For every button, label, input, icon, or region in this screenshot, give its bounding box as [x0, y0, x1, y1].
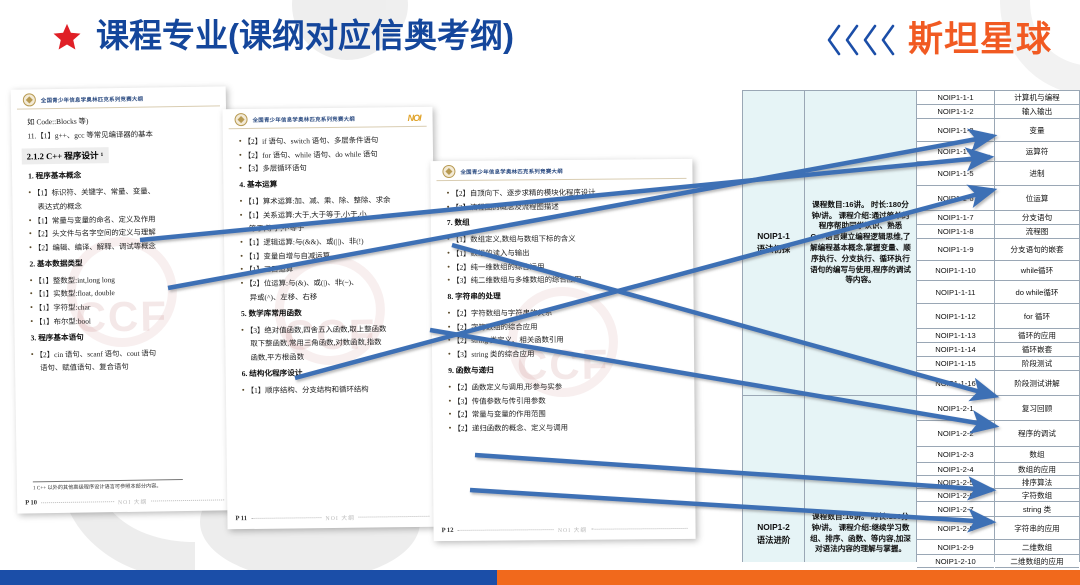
table-cell-code[interactable]: NOIP1-1-11 — [917, 281, 994, 304]
doc-footer: P 11NOI 大纲 — [235, 512, 429, 523]
bg-swoosh-top — [250, 0, 550, 70]
table-cell-lesson[interactable]: 循环的应用 — [995, 329, 1079, 343]
module-code: NOIP1-1 — [757, 230, 791, 243]
footer-divider — [359, 516, 430, 518]
table-cell-lesson[interactable]: string 类 — [995, 502, 1079, 517]
table-cell-code[interactable]: NOIP1-2-6 — [917, 489, 994, 502]
doc-footnote: 1 C++ 以外的其他高级程序设计语言可参照本部分内容。 — [33, 479, 183, 491]
table-cell-code[interactable]: NOIP1-2-8 — [917, 517, 994, 540]
table-cell-code[interactable]: NOIP1-1-6 — [917, 186, 994, 211]
chevron-left-icon — [825, 23, 842, 57]
table-cell-code[interactable]: NOIP1-1-7 — [917, 211, 994, 225]
footer-divider — [251, 517, 322, 519]
table-cell-code[interactable]: NOIP1-1-14 — [917, 343, 994, 357]
table-description-cell[interactable]: 课程数目:16讲。 时长:180分钟/讲。 课程介绍:继续学习数组、排序、函数、… — [805, 396, 916, 585]
doc-page-number: P 12 — [442, 527, 454, 534]
table-cell-code[interactable]: NOIP1-2-4 — [917, 463, 994, 476]
table-cell-code[interactable]: NOIP1-1-3 — [917, 119, 994, 142]
doc-section-heading: 2.1.2 C++ 程序设计 ¹ — [22, 148, 109, 165]
table-cell-lesson[interactable]: 进制 — [995, 162, 1079, 186]
table-cell-code[interactable]: NOIP1-2-3 — [917, 447, 994, 463]
table-cell-lesson[interactable]: 阶段测试 — [995, 357, 1079, 371]
table-cell-code[interactable]: NOIP1-1-12 — [917, 304, 994, 329]
table-description-cell[interactable]: 课程数目:16讲。 时长:180分钟/讲。 课程介绍:通过简单的程序帮助同学认识… — [805, 91, 916, 396]
table-cell-lesson[interactable]: 运算符 — [995, 142, 1079, 162]
footer-divider — [457, 529, 553, 531]
footer-divider — [41, 501, 114, 503]
table-cell-lesson[interactable]: 流程图 — [995, 225, 1079, 239]
doc-section-title: 4. 基本运算 — [239, 174, 423, 195]
noi-seal-icon — [442, 165, 455, 178]
doc-section-title: 5. 数学库常用函数 — [241, 302, 425, 323]
table-col-module: NOIP1-1语法初探NOIP1-2语法进阶 — [743, 91, 805, 562]
table-cell-lesson[interactable]: 计算机与编程 — [995, 91, 1079, 105]
doc-page-3[interactable]: 全国青少年信息学奥林匹克系列竞赛大纲CCF【2】自顶向下、逐步求精的模块化程序设… — [430, 159, 695, 541]
table-cell-lesson[interactable]: 字符数组 — [995, 489, 1079, 502]
table-cell-lesson[interactable]: do while循环 — [995, 281, 1079, 304]
footer-bar-blue — [0, 570, 497, 585]
module-label: 语法初探 — [757, 243, 791, 256]
noi-seal-icon — [23, 93, 36, 106]
doc-footer: P 10NOI 大纲 — [25, 495, 224, 507]
module-text: NOIP1-1语法初探 — [757, 230, 791, 255]
table-cell-code[interactable]: NOIP1-1-2 — [917, 105, 994, 119]
table-cell-lesson[interactable]: 输入输出 — [995, 105, 1079, 119]
table-cell-code[interactable]: NOIP1-1-5 — [917, 162, 994, 186]
doc-footer-text: NOI 大纲 — [558, 525, 587, 534]
table-cell-code[interactable]: NOIP1-1-10 — [917, 261, 994, 281]
table-module-cell[interactable]: NOIP1-1语法初探 — [743, 91, 804, 396]
table-cell-lesson[interactable]: 分支语句的嵌套 — [995, 239, 1079, 261]
table-cell-code[interactable]: NOIP1-1-1 — [917, 91, 994, 105]
doc-header-text: 全国青少年信息学奥林匹克系列竞赛大纲 — [41, 94, 144, 104]
chevron-left-icon — [879, 23, 896, 57]
table-cell-code[interactable]: NOIP1-2-2 — [917, 421, 994, 447]
table-cell-code[interactable]: NOIP1-2-5 — [917, 476, 994, 489]
table-cell-code[interactable]: NOIP1-1-8 — [917, 225, 994, 239]
table-cell-code[interactable]: NOIP1-1-15 — [917, 357, 994, 371]
doc-footer-text: NOI 大纲 — [118, 497, 147, 506]
doc-page-number: P 10 — [25, 499, 37, 506]
table-cell-lesson[interactable]: for 循环 — [995, 304, 1079, 329]
table-cell-lesson[interactable]: 二维数组 — [995, 540, 1079, 555]
chevron-left-icon — [861, 23, 878, 57]
doc-page-1[interactable]: 全国青少年信息学奥林匹克系列竞赛大纲CCF如 Code::Blocks 等)11… — [11, 86, 233, 513]
doc-header-text: 全国青少年信息学奥林匹克系列竞赛大纲 — [253, 114, 356, 123]
table-cell-lesson[interactable]: 程序的调试 — [995, 421, 1079, 447]
table-cell-code[interactable]: NOIP1-1-16 — [917, 371, 994, 396]
doc-header: 全国青少年信息学奥林匹克系列竞赛大纲NOI — [228, 107, 426, 129]
doc-bullet-line: 【1】顺序结构、分支结构和循环结构 — [242, 381, 426, 397]
table-col-description: 课程数目:16讲。 时长:180分钟/讲。 课程介绍:通过简单的程序帮助同学认识… — [805, 91, 917, 562]
table-cell-lesson[interactable]: 变量 — [995, 119, 1079, 142]
table-cell-code[interactable]: NOIP1-2-7 — [917, 502, 994, 517]
table-cell-lesson[interactable]: 复习回顾 — [995, 396, 1079, 421]
doc-header: 全国青少年信息学奥林匹克系列竞赛大纲 — [436, 159, 686, 181]
doc-bullet-line: 【2】递归函数的概念、定义与调用 — [449, 420, 685, 436]
table-cell-lesson[interactable]: 阶段测试讲解 — [995, 371, 1079, 396]
table-module-cell[interactable]: NOIP1-2语法进阶 — [743, 396, 804, 585]
table-cell-code[interactable]: NOIP1-1-4 — [917, 142, 994, 162]
doc-section-title: 8. 字符串的处理 — [447, 286, 683, 307]
chevron-group — [825, 23, 896, 57]
doc-section-title: 9. 函数与递归 — [448, 360, 684, 381]
table-col-lesson-name: 计算机与编程输入输出变量运算符进制位运算分支语句流程图分支语句的嵌套while循… — [995, 91, 1080, 562]
table-col-code: NOIP1-1-1NOIP1-1-2NOIP1-1-3NOIP1-1-4NOIP… — [917, 91, 995, 562]
table-cell-code[interactable]: NOIP1-1-13 — [917, 329, 994, 343]
chevron-left-icon — [843, 23, 860, 57]
doc-continuation-line: 语句、赋值语句、复合语句 — [31, 359, 220, 376]
table-cell-lesson[interactable]: 分支语句 — [995, 211, 1079, 225]
table-cell-code[interactable]: NOIP1-1-9 — [917, 239, 994, 261]
module-code: NOIP1-2 — [757, 521, 791, 534]
doc-text-line: 11.【1】g++、gcc 等常见编译器的基本 — [27, 126, 216, 143]
table-cell-lesson[interactable]: while循环 — [995, 261, 1079, 281]
doc-body: 【2】if 语句、switch 语句、多层条件语句【2】for 语句、while… — [223, 127, 436, 398]
doc-page-2[interactable]: 全国青少年信息学奥林匹克系列竞赛大纲NOICCF【2】if 语句、switch … — [222, 107, 437, 530]
footer-divider — [151, 499, 224, 501]
description-text: 课程数目:16讲。 时长:180分钟/讲。 课程介绍:通过简单的程序帮助同学认识… — [810, 200, 911, 286]
table-cell-code[interactable]: NOIP1-2-9 — [917, 540, 994, 555]
table-cell-lesson[interactable]: 字符串的应用 — [995, 517, 1079, 540]
module-text: NOIP1-2语法进阶 — [757, 521, 791, 546]
table-cell-lesson[interactable]: 循环嵌套 — [995, 343, 1079, 357]
table-cell-code[interactable]: NOIP1-2-1 — [917, 396, 994, 421]
doc-footer-text: NOI 大纲 — [325, 513, 354, 522]
curriculum-table[interactable]: NOIP1-1语法初探NOIP1-2语法进阶 课程数目:16讲。 时长:180分… — [742, 90, 1080, 562]
doc-header-text: 全国青少年信息学奥林匹克系列竞赛大纲 — [460, 166, 563, 175]
description-text: 课程数目:16讲。 时长:180分钟/讲。 课程介绍:继续学习数组、排序、函数、… — [810, 512, 911, 555]
doc-page-number: P 11 — [235, 515, 247, 522]
doc-section-title: 6. 结构化程序设计 — [242, 362, 426, 383]
red-star-icon — [52, 22, 82, 52]
table-cell-lesson[interactable]: 数组的应用 — [995, 463, 1079, 476]
table-cell-lesson[interactable]: 二维数组的应用 — [995, 555, 1079, 568]
doc-footer: P 12NOI 大纲 — [442, 524, 688, 535]
module-label: 语法进阶 — [757, 534, 791, 547]
doc-body: 【2】自顶向下、逐步求精的模块化程序设计【2】流程图的概念及流程图描述7. 数组… — [431, 179, 695, 436]
footer-bar-orange — [497, 570, 1080, 585]
noi-seal-icon — [234, 113, 247, 126]
table-cell-code[interactable]: NOIP1-2-10 — [917, 555, 994, 568]
slide-canvas: 课程专业(课纲对应信奥考纲) 斯坦星球 全国青少年信息学奥林匹克系列竞赛大纲CC… — [0, 0, 1080, 585]
doc-body: 如 Code::Blocks 等)11.【1】g++、gcc 等常见编译器的基本… — [11, 106, 230, 375]
table-cell-lesson[interactable]: 数组 — [995, 447, 1079, 463]
noi-logo-mark: NOI — [407, 112, 420, 122]
table-cell-lesson[interactable]: 位运算 — [995, 186, 1079, 211]
doc-section-title: 7. 数组 — [447, 212, 683, 233]
footer-divider — [591, 528, 687, 530]
table-cell-lesson[interactable]: 排序算法 — [995, 476, 1079, 489]
